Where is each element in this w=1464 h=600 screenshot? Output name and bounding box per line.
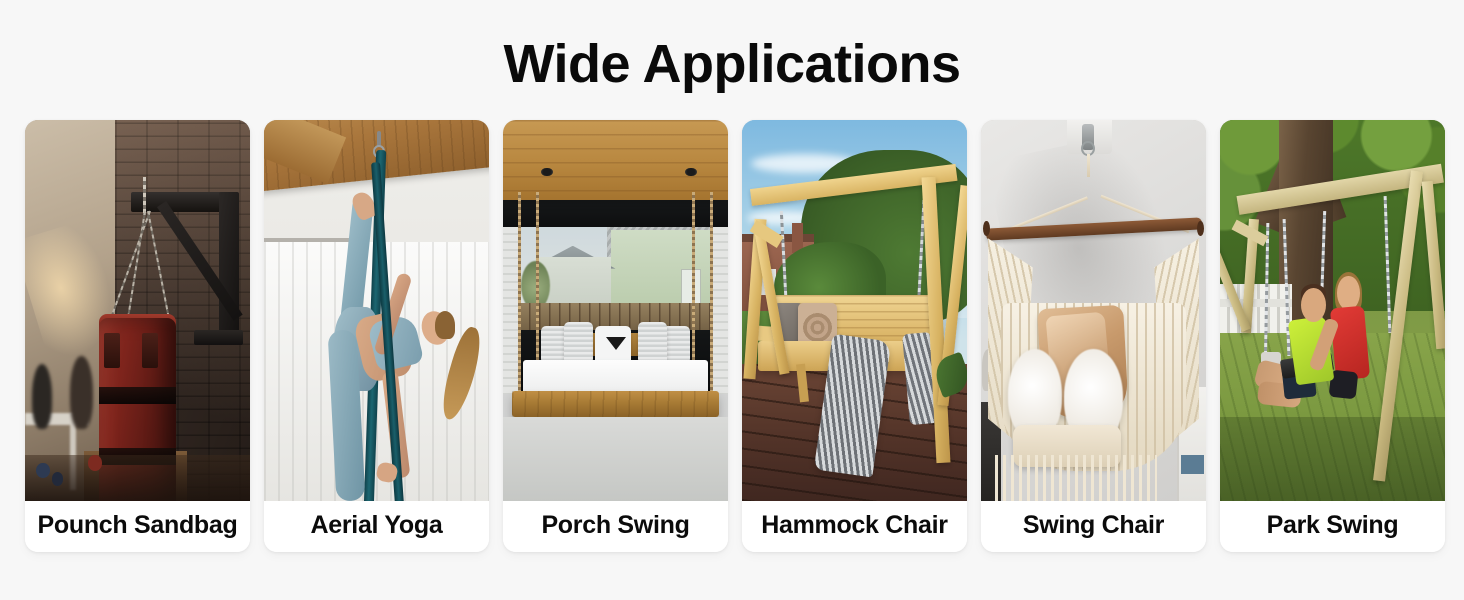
application-card-strip: Pounch Sandbag	[25, 120, 1439, 552]
card-image-pounch-sandbag	[25, 120, 250, 501]
card-label-park-swing: Park Swing	[1220, 501, 1445, 552]
card-image-porch-swing	[503, 120, 728, 501]
application-card-porch-swing[interactable]: Porch Swing	[503, 120, 728, 552]
card-image-hammock-chair	[742, 120, 967, 501]
application-card-park-swing[interactable]: Park Swing	[1220, 120, 1445, 552]
application-card-swing-chair[interactable]: Swing Chair	[981, 120, 1206, 552]
page-title: Wide Applications	[0, 33, 1464, 95]
wide-applications-section: Wide Applications	[0, 0, 1464, 600]
application-card-hammock-chair[interactable]: Hammock Chair	[742, 120, 967, 552]
card-label-aerial-yoga: Aerial Yoga	[264, 501, 489, 552]
card-label-pounch-sandbag: Pounch Sandbag	[25, 501, 250, 552]
card-label-swing-chair: Swing Chair	[981, 501, 1206, 552]
card-label-porch-swing: Porch Swing	[503, 501, 728, 552]
application-card-aerial-yoga[interactable]: Aerial Yoga	[264, 120, 489, 552]
card-image-swing-chair	[981, 120, 1206, 501]
card-label-hammock-chair: Hammock Chair	[742, 501, 967, 552]
card-image-park-swing	[1220, 120, 1445, 501]
application-card-pounch-sandbag[interactable]: Pounch Sandbag	[25, 120, 250, 552]
card-image-aerial-yoga	[264, 120, 489, 501]
